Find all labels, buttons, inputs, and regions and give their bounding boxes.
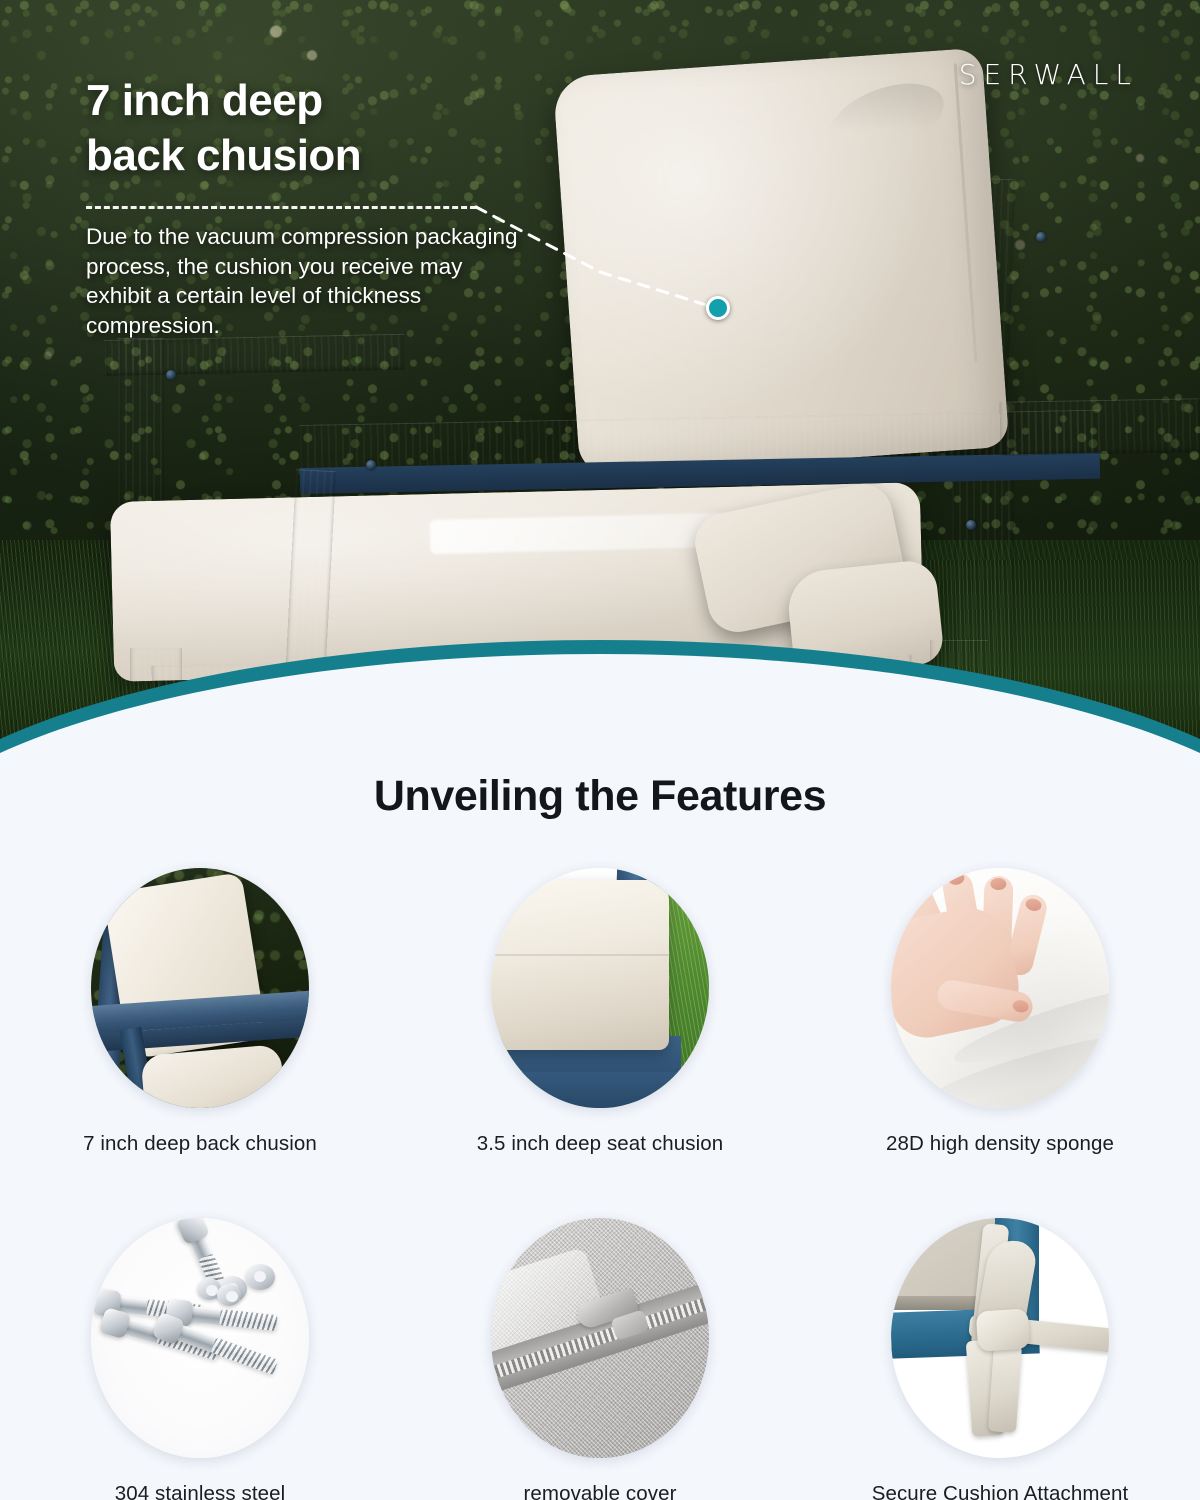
screw-icon xyxy=(1036,232,1046,242)
chair-arm-rail-right xyxy=(1000,398,1200,455)
feature-image-stainless-bolts xyxy=(91,1218,309,1458)
feature-item[interactable]: 7 inch deep back chusion xyxy=(0,868,400,1156)
feature-label: removable cover xyxy=(523,1482,676,1500)
chair-leg-right xyxy=(930,640,988,750)
screw-icon xyxy=(366,460,376,470)
feature-image-cushion-attachment xyxy=(891,1218,1109,1458)
feature-label: 3.5 inch deep seat chusion xyxy=(477,1132,724,1156)
feature-item[interactable]: removable cover xyxy=(400,1218,800,1500)
seat-cushion-closeup xyxy=(140,1044,285,1108)
feature-item[interactable]: 3.5 inch deep seat chusion xyxy=(400,868,800,1156)
feature-label: 28D high density sponge xyxy=(886,1132,1114,1156)
dashed-divider xyxy=(86,206,476,209)
hero-subcopy: Due to the vacuum compression packaging … xyxy=(86,222,526,341)
feature-item[interactable]: Secure Cushion Attachment xyxy=(800,1218,1200,1500)
feature-label: 304 stainless steel xyxy=(115,1482,286,1500)
screw-icon xyxy=(166,370,176,380)
features-title: Unveiling the Features xyxy=(0,772,1200,821)
cushion-fold-shadow xyxy=(819,70,953,169)
feature-item[interactable]: 28D high density sponge xyxy=(800,868,1200,1156)
seat-cushion-closeup xyxy=(491,880,669,1050)
teal-callout-dot-icon xyxy=(706,296,730,320)
hero-headline: 7 inch deep back chusion xyxy=(86,74,516,183)
feature-image-zipper xyxy=(491,1218,709,1458)
feature-image-sponge xyxy=(891,868,1109,1108)
chair-front-rail xyxy=(152,655,913,726)
tie-strap-knot xyxy=(976,1308,1031,1352)
hero-section: SERWALL 7 inch deep back chusion Due to … xyxy=(0,0,1200,790)
cushion-seam xyxy=(491,954,669,956)
washer xyxy=(217,1284,241,1306)
feature-item[interactable]: 304 stainless steel xyxy=(0,1218,400,1500)
features-section: Unveiling the Features 7 inch deep back … xyxy=(0,760,1200,1500)
feature-image-seat-cushion xyxy=(491,868,709,1108)
screw-icon xyxy=(966,520,976,530)
washer xyxy=(245,1264,275,1290)
brand-logo: SERWALL xyxy=(959,58,1138,91)
product-infographic-page: SERWALL 7 inch deep back chusion Due to … xyxy=(0,0,1200,1500)
chair-base-lower xyxy=(521,1072,681,1108)
feature-label: 7 inch deep back chusion xyxy=(83,1132,317,1156)
feature-image-back-cushion xyxy=(91,868,309,1108)
feature-label: Secure Cushion Attachment xyxy=(872,1482,1129,1500)
hero-headline-line-2: back chusion xyxy=(86,129,516,184)
hero-headline-line-1: 7 inch deep xyxy=(86,74,516,129)
features-grid: 7 inch deep back chusion 3.5 inch deep s… xyxy=(0,868,1200,1500)
